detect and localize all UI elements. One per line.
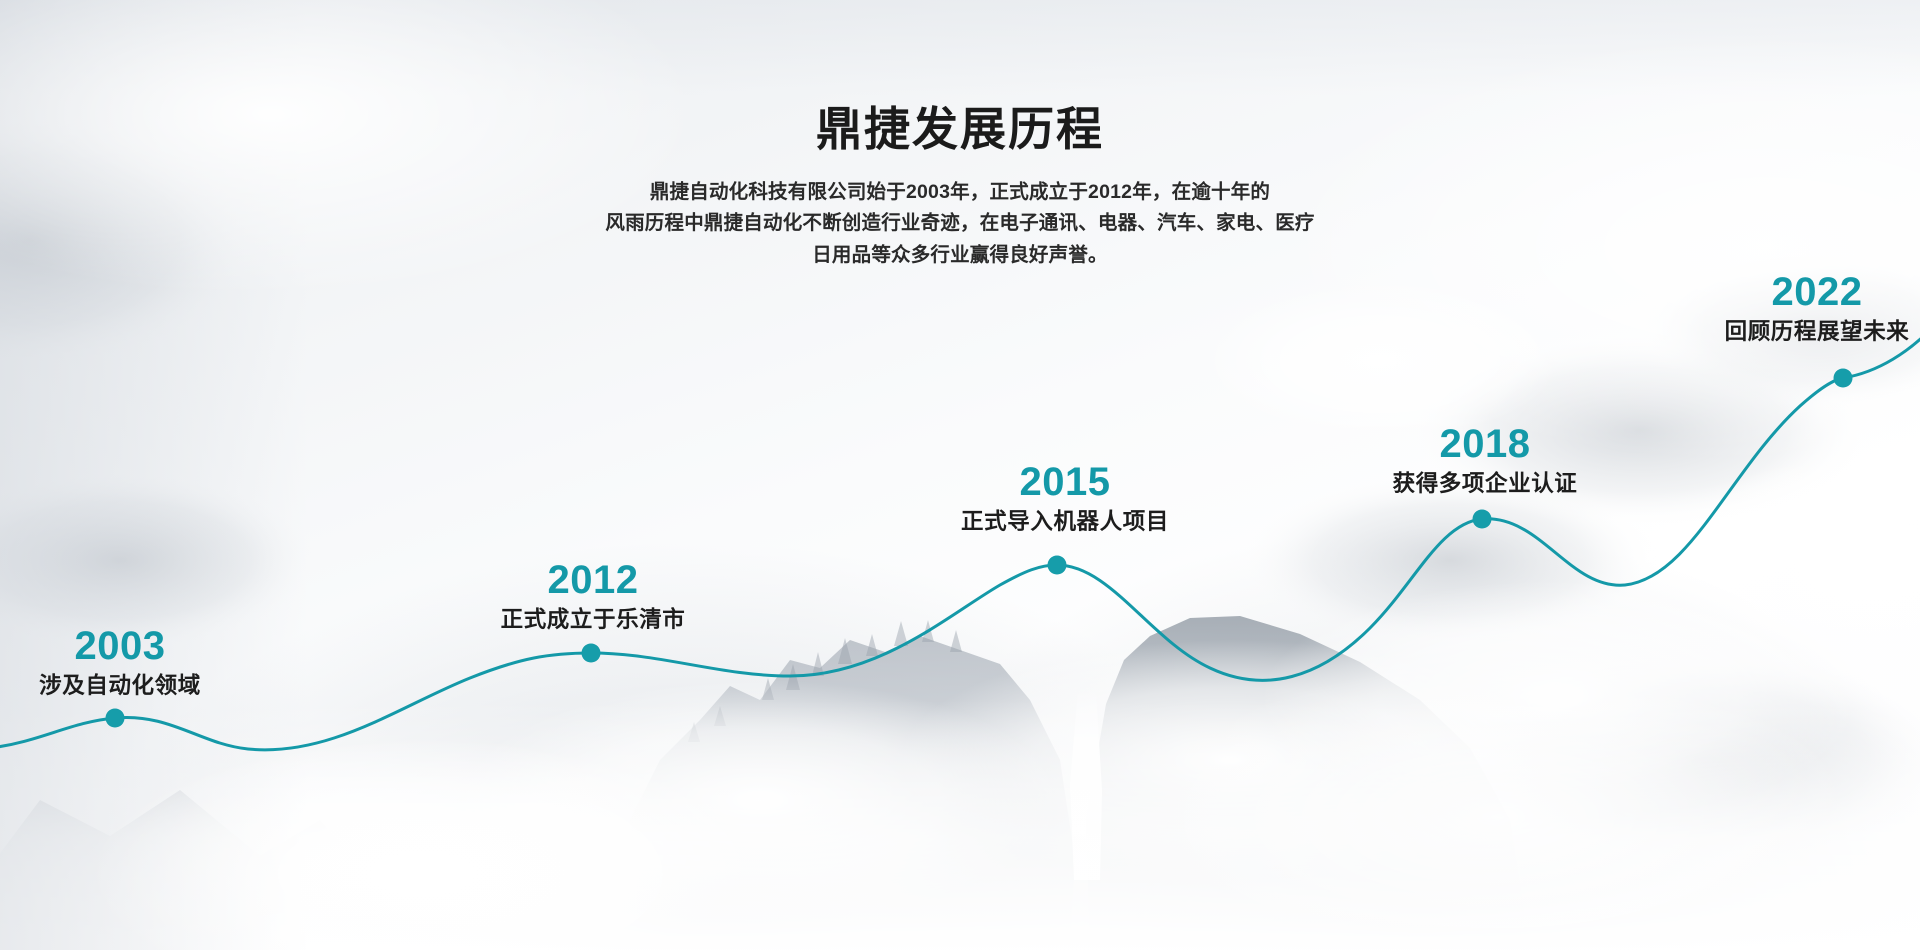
- timeline-dot-2022[interactable]: [1834, 369, 1853, 388]
- header: 鼎捷发展历程 鼎捷自动化科技有限公司始于2003年，正式成立于2012年，在逾十…: [0, 104, 1920, 271]
- milestone-year-2012: 2012: [501, 560, 686, 602]
- subtitle-line-1: 鼎捷自动化科技有限公司始于2003年，正式成立于2012年，在逾十年的: [0, 177, 1920, 209]
- page-subtitle: 鼎捷自动化科技有限公司始于2003年，正式成立于2012年，在逾十年的 风雨历程…: [0, 177, 1920, 272]
- milestone-year-2003: 2003: [39, 626, 201, 668]
- milestone-2012[interactable]: 2012正式成立于乐清市: [501, 560, 686, 634]
- milestone-label-2012: 正式成立于乐清市: [501, 606, 686, 634]
- timeline-dot-2012[interactable]: [582, 644, 601, 663]
- milestone-label-2015: 正式导入机器人项目: [961, 508, 1169, 536]
- milestone-label-2003: 涉及自动化领域: [39, 672, 201, 700]
- milestone-2018[interactable]: 2018获得多项企业认证: [1393, 424, 1578, 498]
- milestone-label-2018: 获得多项企业认证: [1393, 470, 1578, 498]
- milestone-label-2022: 回顾历程展望未来: [1725, 318, 1910, 346]
- milestone-2022[interactable]: 2022回顾历程展望未来: [1725, 272, 1910, 346]
- timeline-dot-2018[interactable]: [1473, 510, 1492, 529]
- timeline-dot-layer: [106, 369, 1853, 728]
- timeline-dot-2015[interactable]: [1048, 556, 1067, 575]
- milestone-year-2018: 2018: [1393, 424, 1578, 466]
- page-title: 鼎捷发展历程: [0, 104, 1920, 155]
- milestone-year-2022: 2022: [1725, 272, 1910, 314]
- milestone-2015[interactable]: 2015正式导入机器人项目: [961, 462, 1169, 536]
- timeline-path: [0, 330, 1920, 750]
- subtitle-line-2: 风雨历程中鼎捷自动化不断创造行业奇迹，在电子通讯、电器、汽车、家电、医疗: [0, 208, 1920, 240]
- timeline-infographic: 鼎捷发展历程 鼎捷自动化科技有限公司始于2003年，正式成立于2012年，在逾十…: [0, 0, 1920, 950]
- subtitle-line-3: 日用品等众多行业赢得良好声誉。: [0, 240, 1920, 272]
- milestone-year-2015: 2015: [961, 462, 1169, 504]
- timeline-dot-2003[interactable]: [106, 709, 125, 728]
- milestone-2003[interactable]: 2003涉及自动化领域: [39, 626, 201, 700]
